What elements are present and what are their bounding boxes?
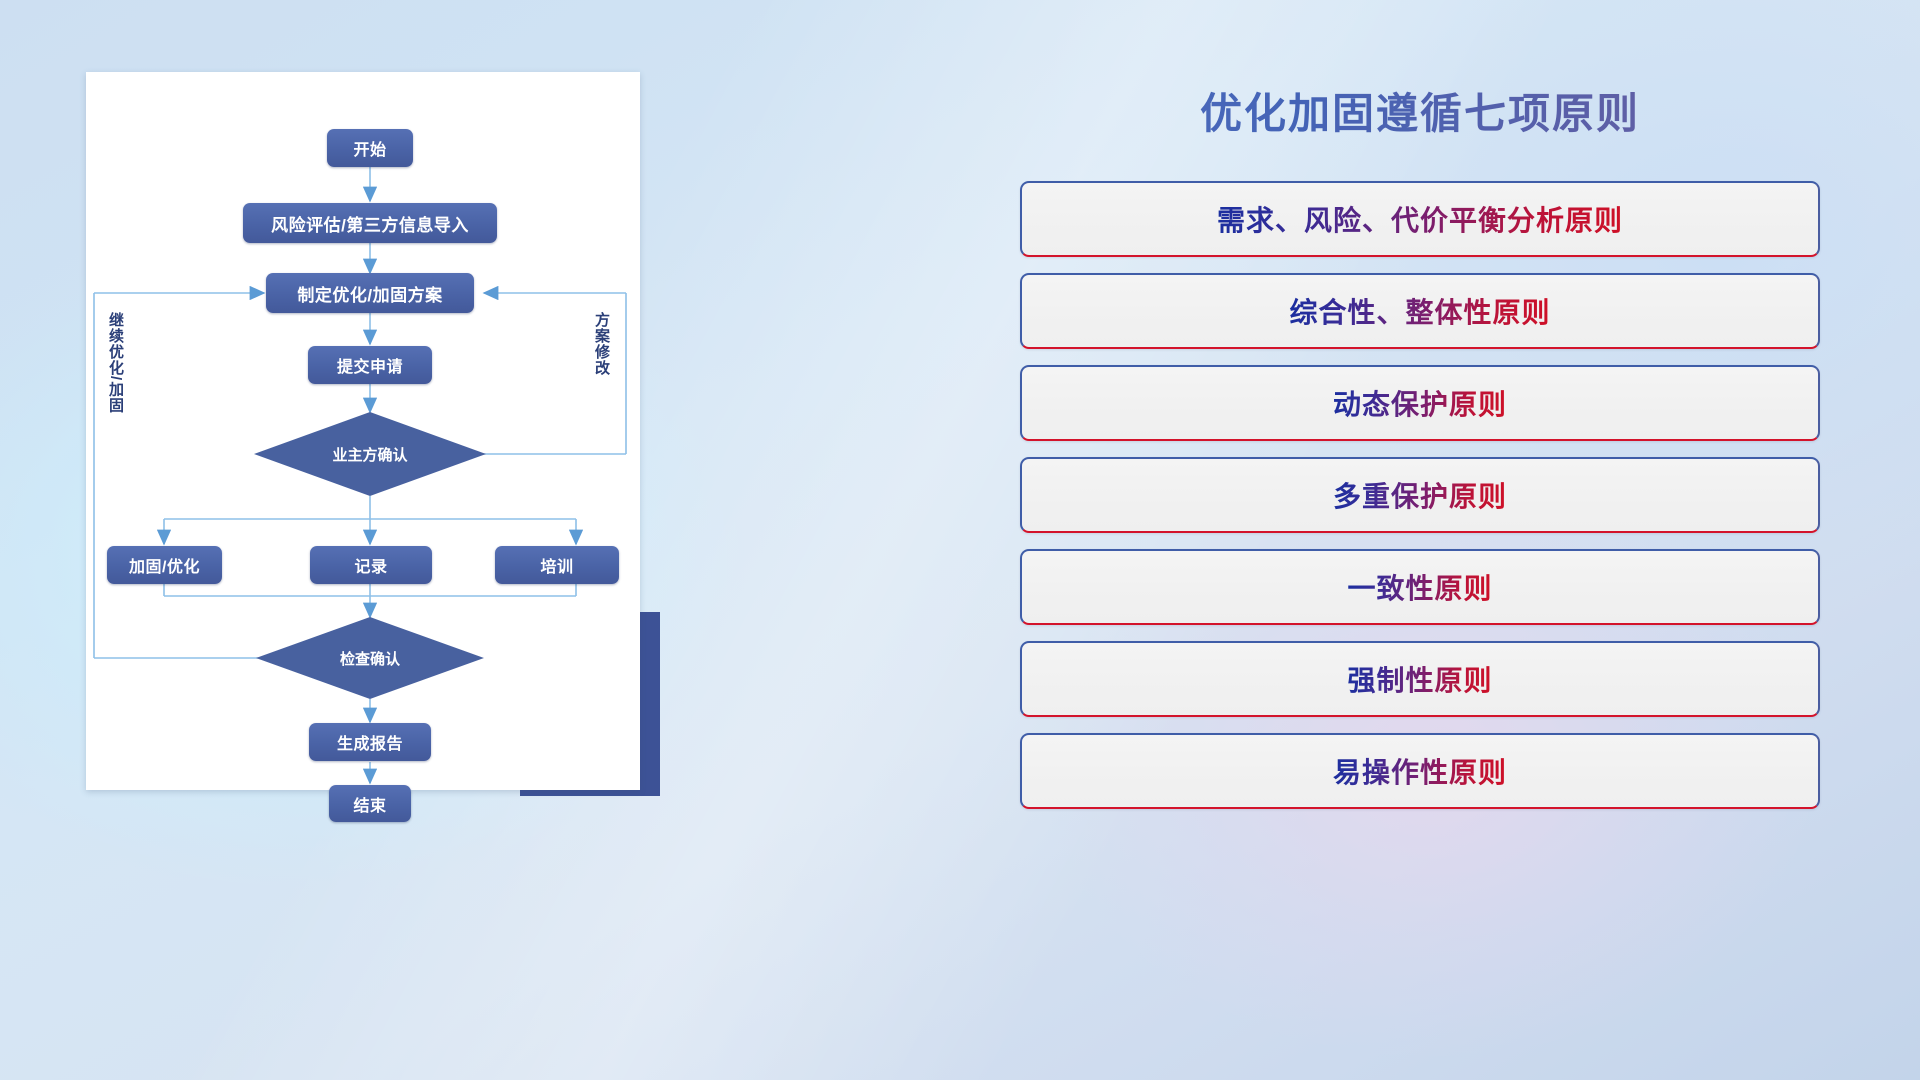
flow-node-label: 生成报告 — [337, 730, 403, 754]
flow-node-label: 记录 — [354, 553, 387, 577]
principles-list: 需求、风险、代价平衡分析原则 综合性、整体性原则 动态保护原则 多重保护原则 一… — [1020, 181, 1820, 809]
flow-node-assess[interactable]: 风险评估/第三方信息导入 — [243, 203, 497, 243]
principle-label: 需求、风险、代价平衡分析原则 — [1217, 199, 1623, 239]
edge-label-plan-revision: 方案修改 — [594, 312, 609, 412]
edge-label-text: 方案修改 — [593, 312, 610, 376]
principle-label: 一致性原则 — [1347, 567, 1492, 607]
principle-label: 综合性、整体性原则 — [1289, 291, 1550, 331]
flowchart-card: 开始 风险评估/第三方信息导入 制定优化/加固方案 提交申请 业主方确认 — [86, 72, 640, 790]
principle-item-2[interactable]: 综合性、整体性原则 — [1020, 273, 1820, 349]
flowchart-panel: 开始 风险评估/第三方信息导入 制定优化/加固方案 提交申请 业主方确认 — [86, 72, 726, 812]
principle-label: 动态保护原则 — [1333, 383, 1507, 423]
flow-node-end[interactable]: 结束 — [329, 785, 411, 822]
flow-node-inspect[interactable]: 检查确认 — [256, 617, 484, 699]
page-title: 优化加固遵循七项原则 — [1020, 80, 1820, 141]
principle-item-1[interactable]: 需求、风险、代价平衡分析原则 — [1020, 181, 1820, 257]
flow-node-label: 加固/优化 — [129, 553, 200, 577]
principle-item-3[interactable]: 动态保护原则 — [1020, 365, 1820, 441]
diamond-shape — [254, 412, 486, 496]
flow-node-label: 风险评估/第三方信息导入 — [271, 211, 469, 236]
principle-label: 易操作性原则 — [1333, 751, 1507, 791]
diamond-shape — [256, 617, 484, 699]
edge-label-continue-optimize: 继续优化/加固 — [108, 312, 123, 452]
principle-label: 多重保护原则 — [1333, 475, 1507, 515]
flow-node-owner-confirm[interactable]: 业主方确认 — [254, 412, 486, 496]
flow-node-label: 提交申请 — [337, 353, 403, 377]
edge-label-text: 继续优化/加固 — [107, 312, 124, 413]
principle-item-5[interactable]: 一致性原则 — [1020, 549, 1820, 625]
slide-root: 开始 风险评估/第三方信息导入 制定优化/加固方案 提交申请 业主方确认 — [0, 0, 1920, 1080]
flow-node-submit[interactable]: 提交申请 — [308, 346, 432, 384]
flow-node-label: 培训 — [540, 553, 573, 577]
flow-node-training[interactable]: 培训 — [495, 546, 619, 584]
flow-node-report[interactable]: 生成报告 — [309, 723, 431, 761]
flow-node-record[interactable]: 记录 — [310, 546, 432, 584]
flow-node-plan[interactable]: 制定优化/加固方案 — [266, 273, 474, 313]
principle-item-6[interactable]: 强制性原则 — [1020, 641, 1820, 717]
flow-node-label: 制定优化/加固方案 — [297, 281, 442, 306]
principle-label: 强制性原则 — [1347, 659, 1492, 699]
flow-node-start[interactable]: 开始 — [327, 129, 413, 167]
flow-node-label: 结束 — [353, 792, 386, 816]
flow-node-label: 开始 — [353, 136, 386, 160]
principles-panel: 优化加固遵循七项原则 需求、风险、代价平衡分析原则 综合性、整体性原则 动态保护… — [1020, 80, 1820, 1010]
principle-item-7[interactable]: 易操作性原则 — [1020, 733, 1820, 809]
flow-node-reinforce[interactable]: 加固/优化 — [107, 546, 222, 584]
principle-item-4[interactable]: 多重保护原则 — [1020, 457, 1820, 533]
